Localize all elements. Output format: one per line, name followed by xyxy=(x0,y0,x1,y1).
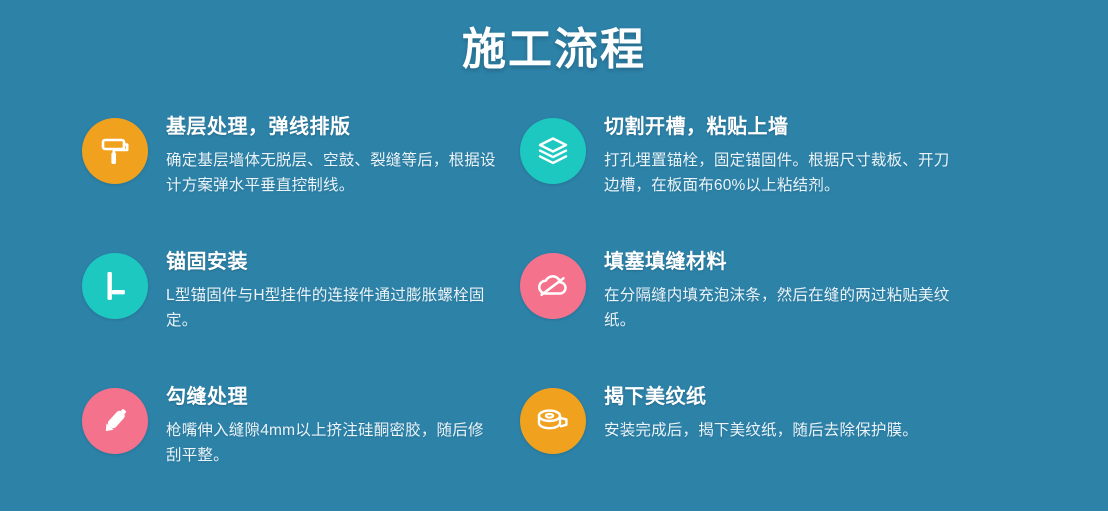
left-column: 基层处理，弹线排版 确定基层墙体无脱层、空鼓、裂缝等后，根据设计方案弹水平垂直控… xyxy=(0,110,520,515)
step-description: L型锚固件与H型挂件的连接件通过膨胀螺栓固定。 xyxy=(166,283,496,333)
step-title: 揭下美纹纸 xyxy=(604,384,918,410)
step-title: 基层处理，弹线排版 xyxy=(166,114,496,140)
step-text: 基层处理，弹线排版 确定基层墙体无脱层、空鼓、裂缝等后，根据设计方案弹水平垂直控… xyxy=(166,110,496,198)
step-item[interactable]: 填塞填缝材料 在分隔缝内填充泡沫条，然后在缝的两过粘贴美纹纸。 xyxy=(520,245,1108,380)
step-text: 锚固安装 L型锚固件与H型挂件的连接件通过膨胀螺栓固定。 xyxy=(166,245,496,333)
step-item[interactable]: 勾缝处理 枪嘴伸入缝隙4mm以上挤注硅酮密胶，随后修刮平整。 xyxy=(82,380,520,515)
step-description: 在分隔缝内填充泡沫条，然后在缝的两过粘贴美纹纸。 xyxy=(604,283,954,333)
infographic-page: 施工流程 基层处理，弹线排版 确定基层墙体无脱层、空鼓、裂缝等后，根据设计方案弹… xyxy=(0,0,1108,518)
step-title: 锚固安装 xyxy=(166,249,496,275)
cloud-slash-icon xyxy=(520,253,586,319)
step-item[interactable]: 切割开槽，粘贴上墙 打孔埋置锚栓，固定锚固件。根据尺寸裁板、开刀边槽，在板面布6… xyxy=(520,110,1108,245)
step-description: 打孔埋置锚栓，固定锚固件。根据尺寸裁板、开刀边槽，在板面布60%以上粘结剂。 xyxy=(604,148,954,198)
step-text: 揭下美纹纸 安装完成后，揭下美纹纸，随后去除保护膜。 xyxy=(604,380,918,443)
step-title: 勾缝处理 xyxy=(166,384,496,410)
step-title: 切割开槽，粘贴上墙 xyxy=(604,114,954,140)
step-description: 确定基层墙体无脱层、空鼓、裂缝等后，根据设计方案弹水平垂直控制线。 xyxy=(166,148,496,198)
step-description: 安装完成后，揭下美纹纸，随后去除保护膜。 xyxy=(604,418,918,443)
l-bracket-icon xyxy=(82,253,148,319)
step-text: 填塞填缝材料 在分隔缝内填充泡沫条，然后在缝的两过粘贴美纹纸。 xyxy=(604,245,954,333)
page-title: 施工流程 xyxy=(0,26,1108,74)
paint-roller-icon xyxy=(82,118,148,184)
step-text: 勾缝处理 枪嘴伸入缝隙4mm以上挤注硅酮密胶，随后修刮平整。 xyxy=(166,380,496,468)
right-column: 切割开槽，粘贴上墙 打孔埋置锚栓，固定锚固件。根据尺寸裁板、开刀边槽，在板面布6… xyxy=(520,110,1108,515)
step-item[interactable]: 基层处理，弹线排版 确定基层墙体无脱层、空鼓、裂缝等后，根据设计方案弹水平垂直控… xyxy=(82,110,520,245)
step-item[interactable]: 锚固安装 L型锚固件与H型挂件的连接件通过膨胀螺栓固定。 xyxy=(82,245,520,380)
step-item[interactable]: 揭下美纹纸 安装完成后，揭下美纹纸，随后去除保护膜。 xyxy=(520,380,1108,515)
step-description: 枪嘴伸入缝隙4mm以上挤注硅酮密胶，随后修刮平整。 xyxy=(166,418,496,468)
tape-roll-icon xyxy=(520,388,586,454)
step-title: 填塞填缝材料 xyxy=(604,249,954,275)
step-text: 切割开槽，粘贴上墙 打孔埋置锚栓，固定锚固件。根据尺寸裁板、开刀边槽，在板面布6… xyxy=(604,110,954,198)
caulking-syringe-icon xyxy=(82,388,148,454)
steps-container: 基层处理，弹线排版 确定基层墙体无脱层、空鼓、裂缝等后，根据设计方案弹水平垂直控… xyxy=(0,110,1108,515)
layers-stack-icon xyxy=(520,118,586,184)
